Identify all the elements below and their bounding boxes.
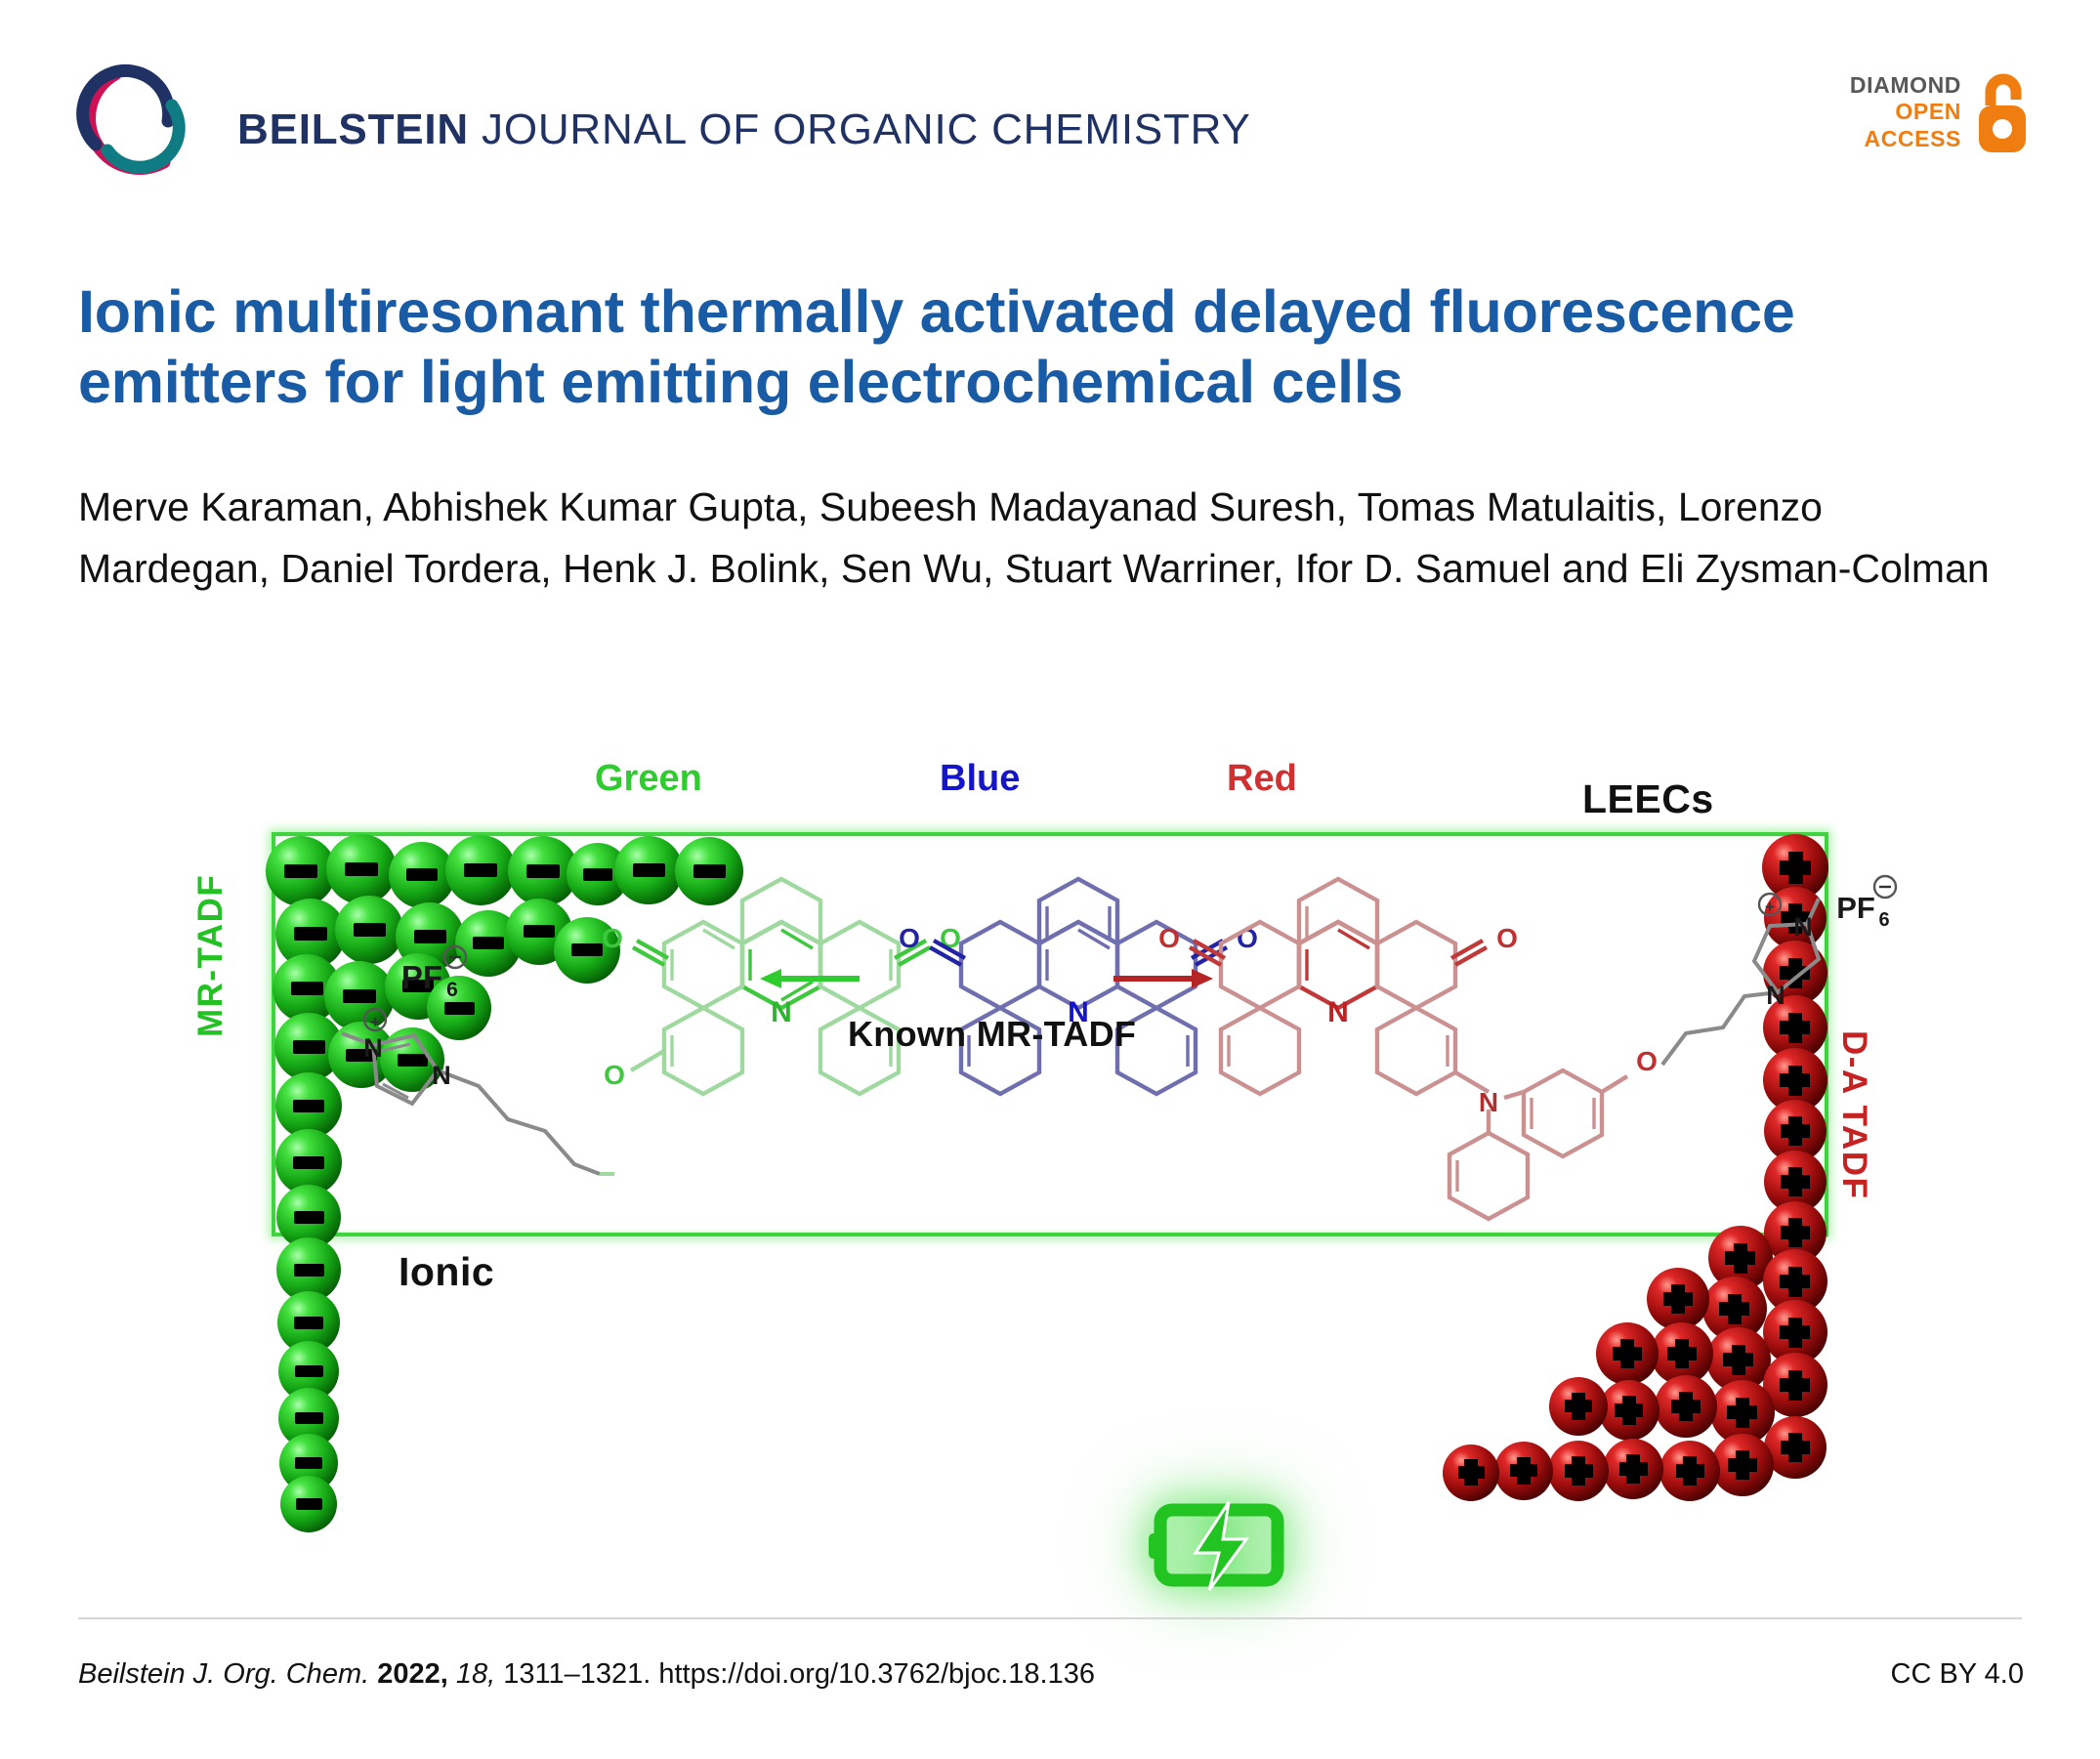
citation-journal: Beilstein J. Org. Chem. [78,1658,377,1690]
author-list: Merve Karaman, Abhishek Kumar Gupta, Sub… [78,477,1993,599]
journal-title-bold: BEILSTEIN [237,105,469,153]
footer-divider [78,1617,2022,1619]
open-access-text: DIAMOND OPEN ACCESS [1850,72,1961,151]
charging-battery-icon [1145,1496,1303,1594]
article-cover-page: BEILSTEIN JOURNAL OF ORGANIC CHEMISTRY D… [0,0,2100,1759]
license-label: CC BY 4.0 [1891,1658,2024,1691]
citation-pages-doi: 1311–1321. https://doi.org/10.3762/bjoc.… [495,1658,1095,1690]
label-ionic: Ionic [399,1249,494,1295]
journal-title-light: JOURNAL OF ORGANIC CHEMISTRY [469,105,1251,153]
label-da-tadf: D-A TADF [1834,1030,1873,1199]
open-lock-icon [1973,70,2032,154]
beilstein-swirl-logo [70,61,193,184]
open-access-diamond-label: DIAMOND [1850,72,1961,99]
journal-title: BEILSTEIN JOURNAL OF ORGANIC CHEMISTRY [237,105,1251,154]
label-mr-tadf: MR-TADF [191,874,231,1037]
graphical-abstract: O O N O N N + PF 6 [0,723,2100,1563]
page-header: BEILSTEIN JOURNAL OF ORGANIC CHEMISTRY D… [0,0,2100,195]
open-access-badge: DIAMOND OPEN ACCESS [1850,70,2032,154]
svg-text:6: 6 [1878,909,1889,931]
open-access-open-label: OPEN [1850,99,1961,125]
citation-volume: 18, [448,1658,495,1690]
page-title: Ionic multiresonant thermally activated … [78,277,2022,418]
label-leecs: LEECs [1582,776,1714,822]
label-green: Green [595,758,702,800]
citation-year: 2022, [377,1658,448,1690]
label-known-mr-tadf: Known MR-TADF [848,1014,1136,1055]
citation-line: Beilstein J. Org. Chem. 2022, 18, 1311–1… [78,1658,1095,1691]
svg-text:PF: PF [1836,891,1875,925]
open-access-access-label: ACCESS [1850,126,1961,152]
label-blue: Blue [940,758,1020,800]
label-red: Red [1227,758,1297,800]
